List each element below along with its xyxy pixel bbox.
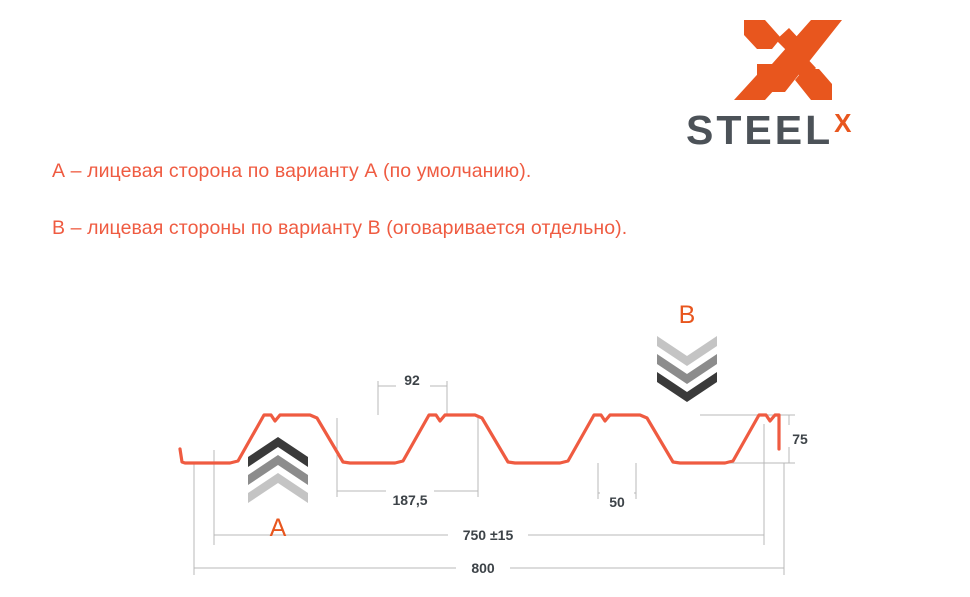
dimension-labels: 92 187,5 50 75 750 ±15 800: [392, 372, 808, 576]
marker-b-label: B: [655, 302, 719, 328]
chevron-down-stack-icon: [655, 336, 719, 402]
marker-variant-a: A: [246, 437, 310, 537]
marker-variant-b: B: [655, 306, 719, 406]
dimension-label-valley-width: 50: [609, 494, 625, 510]
marker-a-label: A: [246, 515, 310, 541]
dimension-label-crest-width: 92: [404, 372, 420, 388]
dimension-label-effective-width: 750 ±15: [463, 527, 514, 543]
dimension-label-overall-width: 800: [471, 560, 495, 576]
profile-technical-drawing: 92 187,5 50 75 750 ±15 800: [0, 0, 970, 597]
dimension-label-height: 75: [792, 431, 808, 447]
dimension-label-backings: [386, 372, 814, 577]
chevron-up-stack-icon: [246, 437, 310, 503]
dimension-label-pitch: 187,5: [392, 492, 427, 508]
page-root: STEELX А – лицевая сторона по варианту А…: [0, 0, 970, 597]
